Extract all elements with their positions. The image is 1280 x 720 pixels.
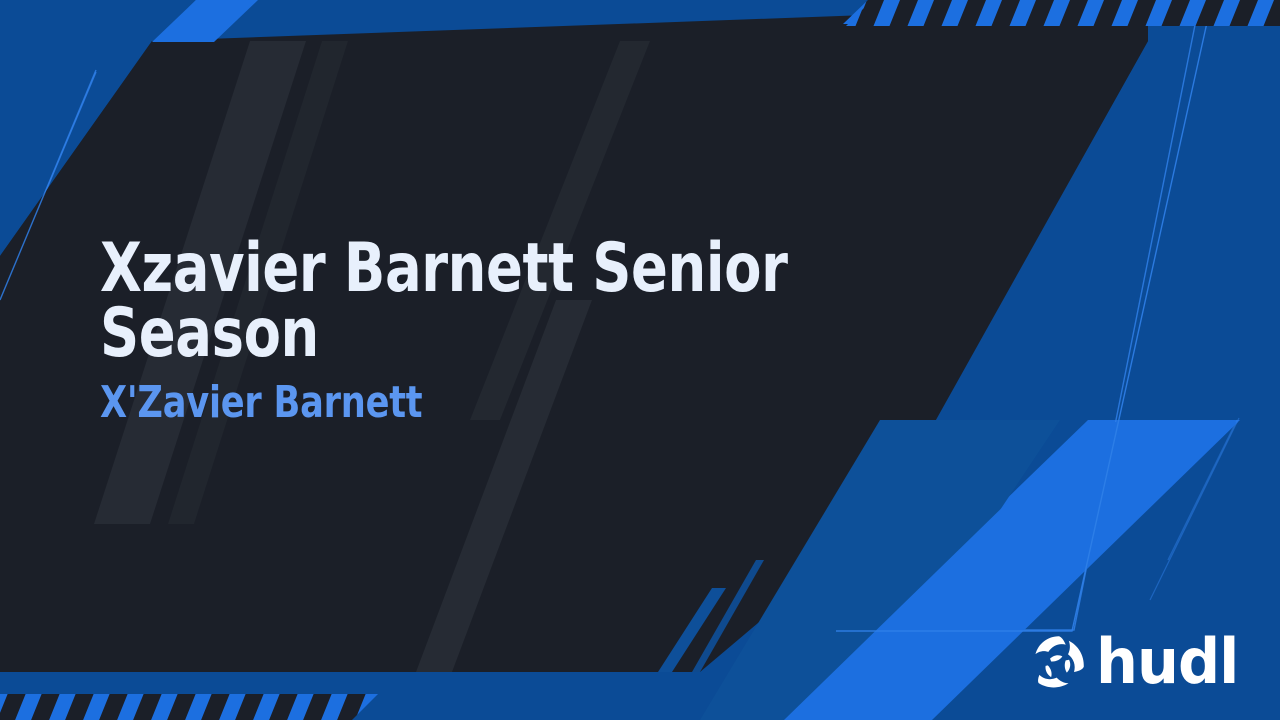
title-text-block: Xzavier Barnett Senior Season X'Zavier B… (100, 236, 900, 425)
page-subtitle: X'Zavier Barnett (100, 381, 900, 425)
hairline-wedge (0, 70, 96, 300)
hatch-band-bottom-left (0, 684, 416, 720)
accent-parallelogram-top (152, 0, 258, 42)
hudl-logo-mark (1030, 634, 1088, 690)
title-card: Xzavier Barnett Senior Season X'Zavier B… (0, 0, 1280, 720)
hudl-logo: hudl (1030, 634, 1246, 690)
hudl-wordmark: hudl (1096, 638, 1238, 686)
hatch-band-top-right (820, 0, 1280, 52)
page-title: Xzavier Barnett Senior Season (100, 236, 900, 367)
